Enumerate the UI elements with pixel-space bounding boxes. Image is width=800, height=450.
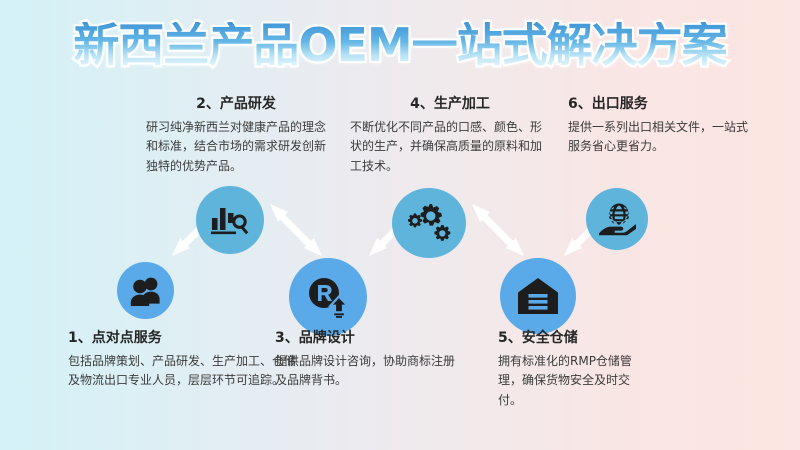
step-2-body: 研习纯净新西兰对健康产品的理念和标准，结合市场的需求研发创新独特的优势产品。 — [146, 118, 326, 176]
step-text-4: 4、生产加工 不断优化不同产品的口感、颜色、形状的生产，并确保高质量的原料和加工… — [350, 96, 550, 176]
hand-globe-icon — [598, 202, 636, 236]
step-circle-3[interactable] — [289, 258, 367, 336]
page-title-text: 新西兰产品OEM一站式解决方案 — [73, 22, 726, 68]
step-3-heading: 3、品牌设计 — [275, 330, 455, 347]
step-5-body: 拥有标准化的RMP仓储管理，确保货物安全及时交付。 — [498, 352, 648, 410]
step-5-heading: 5、安全仓储 — [498, 330, 648, 347]
arrow-step2-step3 — [266, 200, 326, 260]
step-text-6: 6、出口服务 提供一系列出口相关文件，一站式服务省心更省力。 — [568, 96, 748, 157]
step-text-1: 1、点对点服务 包括品牌策划、产品研发、生产加工、仓储及物流出口专业人员，层层环… — [68, 330, 298, 391]
step-2-heading: 2、产品研发 — [146, 96, 326, 113]
trademark-cursor-icon — [306, 276, 350, 318]
step-text-5: 5、安全仓储 拥有标准化的RMP仓储管理，确保货物安全及时交付。 — [498, 330, 648, 410]
step-circle-2[interactable] — [196, 186, 264, 254]
step-circle-4[interactable] — [392, 188, 466, 258]
step-circle-5[interactable] — [500, 258, 576, 334]
step-4-body: 不断优化不同产品的口感、颜色、形状的生产，并确保高质量的原料和加工技术。 — [350, 118, 550, 176]
step-6-heading: 6、出口服务 — [568, 96, 748, 113]
step-1-body: 包括品牌策划、产品研发、生产加工、仓储及物流出口专业人员，层层环节可追踪。 — [68, 352, 298, 391]
step-1-heading: 1、点对点服务 — [68, 330, 298, 347]
warehouse-icon — [517, 277, 559, 315]
arrow-step4-step5 — [468, 200, 528, 260]
step-circle-1[interactable] — [117, 262, 174, 319]
step-3-body: 提供品牌设计咨询，协助商标注册及品牌背书。 — [275, 352, 455, 391]
step-text-2: 2、产品研发 研习纯净新西兰对健康产品的理念和标准，结合市场的需求研发创新独特的… — [146, 96, 326, 176]
step-6-body: 提供一系列出口相关文件，一站式服务省心更省力。 — [568, 118, 748, 157]
bar-chart-search-icon — [210, 202, 250, 238]
gears-icon — [405, 201, 453, 245]
page-title: 新西兰产品OEM一站式解决方案 新西兰产品OEM一站式解决方案 — [0, 22, 800, 68]
users-icon — [129, 276, 163, 306]
step-text-3: 3、品牌设计 提供品牌设计咨询，协助商标注册及品牌背书。 — [275, 330, 455, 391]
infographic-canvas: 新西兰产品OEM一站式解决方案 新西兰产品OEM一站式解决方案 — [0, 0, 800, 450]
step-4-heading: 4、生产加工 — [350, 96, 550, 113]
step-circle-6[interactable] — [586, 188, 648, 250]
